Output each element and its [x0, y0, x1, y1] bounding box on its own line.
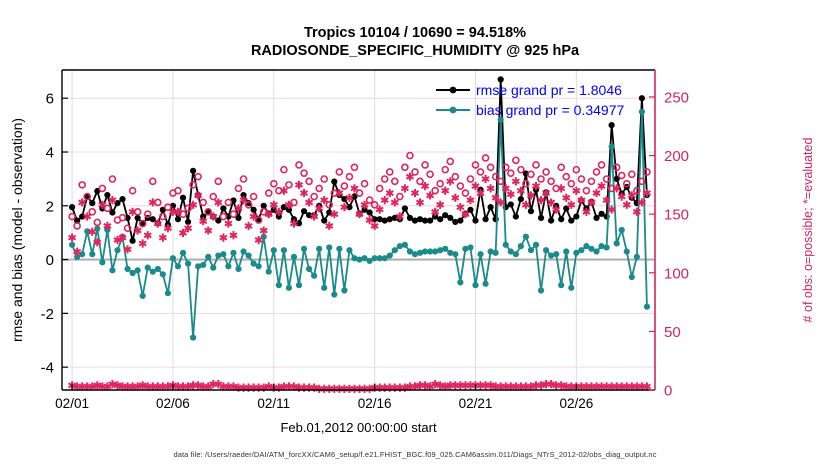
data-point [114, 247, 120, 253]
data-point [165, 290, 171, 296]
data-point [185, 261, 191, 267]
data-point [437, 216, 443, 222]
data-point [230, 250, 236, 256]
data-point [220, 251, 226, 257]
data-point [160, 271, 166, 277]
data-point-open [508, 170, 514, 176]
data-point-asterisk [452, 381, 459, 389]
data-point-open [301, 170, 307, 176]
data-point [538, 215, 544, 221]
data-point-open [488, 164, 494, 170]
data-point [245, 252, 251, 258]
tick-label-x: 02/21 [459, 396, 493, 411]
data-point [311, 273, 317, 279]
data-point-open [382, 176, 388, 182]
data-point-asterisk [139, 239, 146, 247]
data-point-open [316, 185, 322, 191]
data-point-open [387, 169, 393, 175]
data-point [205, 254, 211, 260]
tick-label-left: -4 [41, 360, 54, 377]
legend-label-1: rmse grand pr = 1.8046 [476, 82, 622, 98]
data-point-asterisk [477, 381, 484, 389]
data-point [170, 255, 176, 261]
data-point [235, 266, 241, 272]
data-point-open [538, 176, 544, 182]
data-point-open [467, 176, 473, 182]
data-point [493, 250, 499, 256]
data-point-open [109, 176, 115, 182]
legend-label-2: bias grand pr = 0.34977 [476, 102, 624, 118]
tick-label-right: 50 [664, 324, 681, 341]
data-point [175, 263, 181, 269]
data-point [220, 205, 226, 211]
data-point [513, 213, 519, 219]
chart-page: Tropics 10104 / 10690 = 94.518% RADIOSON… [0, 0, 830, 470]
data-point-open [427, 171, 433, 177]
data-point [341, 287, 347, 293]
data-point [578, 247, 584, 253]
data-point [175, 216, 181, 222]
data-point [89, 200, 95, 206]
data-point-open [336, 169, 342, 175]
data-point-open [210, 194, 216, 200]
data-point-open [281, 167, 287, 173]
data-point-asterisk [507, 190, 514, 198]
data-point-open [442, 167, 448, 173]
data-point-open [377, 185, 383, 191]
data-point-asterisk [245, 222, 252, 230]
data-point [472, 217, 478, 223]
data-point [553, 251, 559, 257]
tick-label-x: 02/16 [358, 396, 392, 411]
data-point-asterisk [69, 234, 76, 242]
data-point-open [543, 169, 549, 175]
data-point [251, 207, 257, 213]
data-point [346, 247, 352, 253]
data-point [528, 208, 534, 214]
data-point [523, 234, 529, 240]
data-point-open [346, 174, 352, 180]
tick-label-left: 0 [46, 252, 54, 269]
data-point [392, 247, 398, 253]
data-point [543, 247, 549, 253]
data-point [624, 248, 630, 254]
data-point [508, 201, 514, 207]
data-point-open [251, 194, 257, 200]
data-point-open [518, 167, 524, 173]
data-point [447, 215, 453, 221]
data-point-asterisk [381, 196, 388, 204]
data-file-footer: data file: /Users/raeder/DAI/ATM_forcXX/… [0, 450, 830, 459]
data-point-open [99, 185, 105, 191]
data-point [467, 244, 473, 250]
data-point-open [130, 188, 136, 194]
data-point-open [457, 183, 463, 189]
data-point-open [478, 169, 484, 175]
tick-label-left: 4 [46, 145, 54, 162]
data-point-asterisk [351, 385, 358, 393]
tick-label-x: 02/01 [55, 396, 89, 411]
data-point-open [447, 158, 453, 164]
data-point [603, 244, 609, 250]
data-point [573, 213, 579, 219]
data-point-asterisk [361, 385, 368, 393]
data-point [180, 250, 186, 256]
data-point-asterisk [573, 187, 580, 195]
data-point-open [200, 199, 206, 205]
data-point-open [437, 181, 443, 187]
data-point [548, 217, 554, 223]
data-point [593, 215, 599, 221]
data-point [271, 247, 277, 253]
data-point [518, 243, 524, 249]
tick-label-left: 6 [46, 91, 54, 108]
data-point-open [462, 190, 468, 196]
data-point [402, 205, 408, 211]
tick-label-left: 2 [46, 198, 54, 215]
data-point [210, 265, 216, 271]
data-point-asterisk [512, 177, 519, 185]
data-point-open [215, 178, 221, 184]
data-point-open [422, 162, 428, 168]
data-point [321, 285, 327, 291]
data-point-open [321, 176, 327, 182]
data-point [488, 204, 494, 210]
data-point [629, 274, 635, 280]
tick-label-right: 100 [664, 265, 689, 282]
data-point-asterisk [220, 234, 227, 242]
data-point-asterisk [321, 385, 328, 393]
data-point-asterisk [341, 385, 348, 393]
data-point [533, 242, 539, 248]
data-point [301, 246, 307, 252]
data-point-open [94, 219, 100, 225]
data-point [240, 248, 246, 254]
data-point-open [225, 199, 231, 205]
data-point-open [286, 182, 292, 188]
data-point-asterisk [467, 381, 474, 389]
data-point [457, 217, 463, 223]
data-point [155, 266, 161, 272]
tick-label-x: 02/26 [559, 396, 593, 411]
data-point-open [392, 178, 398, 184]
data-point-open [241, 176, 247, 182]
data-point-open [563, 174, 569, 180]
data-point-asterisk [432, 208, 439, 216]
data-point [266, 269, 272, 275]
data-point-asterisk [159, 234, 166, 242]
data-point-open [195, 174, 201, 180]
data-point [528, 247, 534, 253]
tick-label-left: -2 [41, 306, 54, 323]
chart-plot-area: -4-2024605010015020025002/0102/0602/1102… [0, 0, 830, 470]
data-point [124, 266, 130, 272]
data-point [69, 242, 75, 248]
data-point-open [351, 164, 357, 170]
data-point [482, 281, 488, 287]
data-point-open [74, 223, 80, 229]
legend-marker-2 [450, 107, 457, 114]
data-point-open [150, 178, 156, 184]
data-point [109, 267, 115, 273]
data-point-open [79, 182, 85, 188]
data-point-open [629, 171, 635, 177]
data-point-asterisk [326, 222, 333, 230]
data-point-open [235, 185, 241, 191]
data-point [619, 227, 625, 233]
data-point-asterisk [437, 201, 444, 209]
data-point-open [619, 172, 625, 178]
y-axis-title-right: # of obs: o=possible; *=evaluated [801, 138, 815, 323]
data-point-asterisk [623, 201, 630, 209]
data-point-open [341, 183, 347, 189]
tick-label-x: 02/06 [156, 396, 190, 411]
data-point [563, 248, 569, 254]
data-point [558, 282, 564, 288]
data-point [286, 285, 292, 291]
data-point [326, 244, 332, 250]
data-point-asterisk [371, 222, 378, 230]
data-point-asterisk [487, 184, 494, 192]
data-point [291, 254, 297, 260]
data-point [568, 217, 574, 223]
data-point [538, 287, 544, 293]
data-point-open [548, 178, 554, 184]
data-point-asterisk [457, 203, 464, 211]
data-point [69, 204, 75, 210]
data-point [225, 263, 231, 269]
data-point [276, 282, 282, 288]
data-point [316, 246, 322, 252]
data-point-asterisk [457, 381, 464, 389]
data-point-asterisk [336, 385, 343, 393]
data-point [402, 242, 408, 248]
data-point [452, 251, 458, 257]
data-point-asterisk [442, 187, 449, 195]
data-point [568, 285, 574, 291]
data-point-open [483, 155, 489, 161]
data-point-open [362, 181, 368, 187]
data-point-asterisk [482, 381, 489, 389]
data-point [558, 216, 564, 222]
data-point-asterisk [230, 231, 237, 239]
data-point-asterisk [260, 226, 267, 234]
data-point-open [588, 178, 594, 184]
data-point [281, 247, 287, 253]
data-point-asterisk [346, 385, 353, 393]
data-point [104, 192, 110, 198]
data-point-open [311, 194, 317, 200]
data-point [513, 251, 519, 257]
data-point [427, 217, 433, 223]
data-point [180, 195, 186, 201]
data-point [190, 334, 196, 340]
tick-label-right: 150 [664, 207, 689, 224]
data-point-asterisk [300, 189, 307, 197]
data-point [89, 251, 95, 257]
data-point-asterisk [144, 231, 151, 239]
data-point [331, 291, 337, 297]
tick-label-right: 200 [664, 148, 689, 165]
data-point [336, 246, 342, 252]
data-point [609, 144, 615, 150]
data-point [256, 263, 262, 269]
data-point-asterisk [411, 189, 418, 197]
tick-label-right: 0 [664, 383, 672, 400]
data-point [477, 251, 483, 257]
data-point [518, 196, 524, 202]
data-point [119, 196, 125, 202]
data-point [296, 282, 302, 288]
data-point-asterisk [326, 385, 333, 393]
data-point [593, 248, 599, 254]
data-point-asterisk [522, 201, 529, 209]
data-point [301, 208, 307, 214]
data-point-open [513, 157, 519, 163]
data-point [472, 282, 478, 288]
data-point-asterisk [295, 181, 302, 189]
data-point-open [407, 153, 413, 159]
legend-marker-1 [450, 87, 457, 94]
data-point-asterisk [452, 194, 459, 202]
data-point-open [599, 162, 605, 168]
tick-label-x: 02/11 [257, 396, 290, 411]
data-point-asterisk [225, 219, 232, 227]
data-point [482, 216, 488, 222]
data-point-asterisk [356, 385, 363, 393]
data-point [634, 254, 640, 260]
data-point-open [568, 181, 574, 187]
data-point [200, 262, 206, 268]
data-point [614, 240, 620, 246]
data-point-asterisk [593, 189, 600, 197]
data-point-open [583, 188, 589, 194]
data-point-asterisk [386, 189, 393, 197]
data-point-asterisk [462, 381, 469, 389]
data-point-asterisk [270, 201, 277, 209]
data-point-asterisk [401, 184, 408, 192]
data-point-asterisk [205, 226, 212, 234]
data-point-asterisk [598, 182, 605, 190]
data-point [609, 122, 615, 128]
data-point-asterisk [482, 175, 489, 183]
data-point-open [306, 178, 312, 184]
data-point-open [397, 194, 403, 200]
data-point [135, 215, 141, 221]
data-point-asterisk [331, 385, 338, 393]
data-point-asterisk [563, 194, 570, 202]
data-point [185, 219, 191, 225]
data-point [331, 178, 337, 184]
data-point-asterisk [467, 196, 474, 204]
data-point [129, 238, 135, 244]
data-point [135, 267, 141, 273]
data-point [190, 168, 196, 174]
data-point-open [578, 176, 584, 182]
data-point [387, 252, 393, 258]
data-point-open [594, 169, 600, 175]
data-point [442, 246, 448, 252]
data-point [457, 279, 463, 285]
data-point-open [296, 162, 302, 168]
data-point-open [558, 164, 564, 170]
data-point [306, 266, 312, 272]
data-point [503, 242, 509, 248]
y-axis-title-left: rmse and bias (model - observation) [9, 118, 25, 342]
data-point [366, 209, 372, 215]
data-point [261, 203, 267, 209]
data-point-open [533, 162, 539, 168]
data-point [140, 293, 146, 299]
data-point-open [402, 164, 408, 170]
tick-label-right: 250 [664, 89, 689, 106]
data-point [321, 217, 327, 223]
data-point [644, 304, 650, 310]
series-5 [69, 380, 651, 393]
data-point [99, 259, 105, 265]
data-point-open [230, 211, 236, 217]
data-point [145, 265, 151, 271]
x-axis-title: Feb.01,2012 00:00:00 start [280, 420, 437, 435]
data-point-open [266, 190, 272, 196]
